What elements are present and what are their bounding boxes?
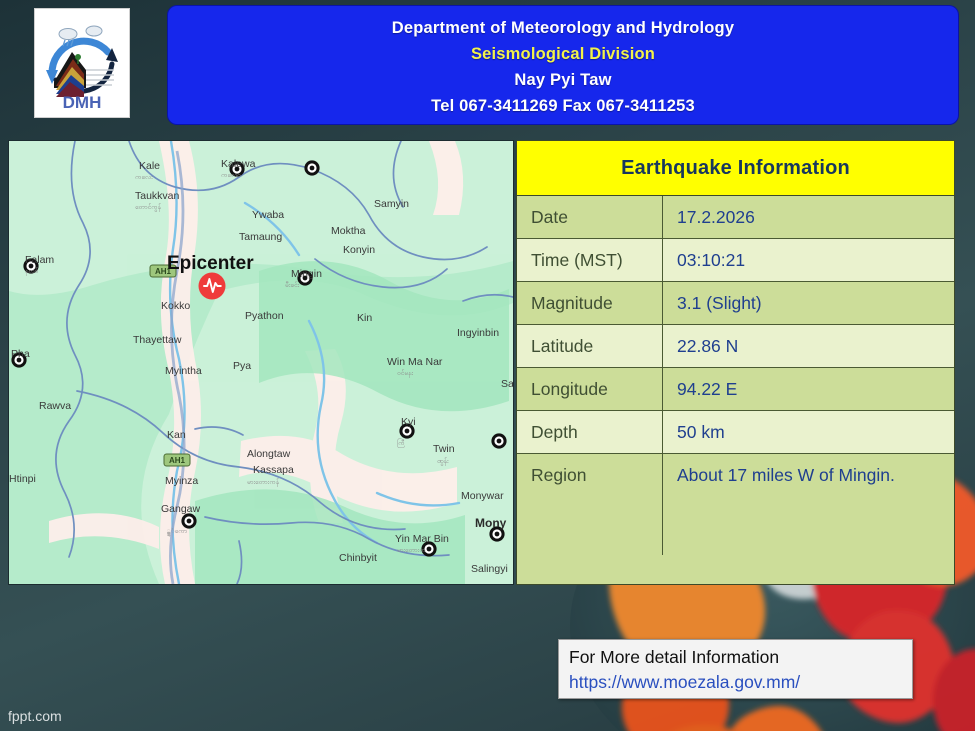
svg-text:Thayettaw: Thayettaw <box>133 334 182 346</box>
earthquake-info-panel: Earthquake Information Date 17.2.2026 Ti… <box>516 140 955 585</box>
svg-text:Myinza: Myinza <box>165 475 198 487</box>
dmh-logo: DMH <box>34 8 130 118</box>
map-canvas: Kale ကလေး Kalewa ကလေဝ Taukkvan တောင်ကွန်… <box>9 141 513 584</box>
header-banner: Department of Meteorology and Hydrology … <box>168 6 958 124</box>
table-row: Latitude 22.86 N <box>517 325 954 368</box>
svg-text:ကလေး: ကလေး <box>135 174 153 181</box>
row-label-time: Time (MST) <box>517 239 663 281</box>
table-row: Magnitude 3.1 (Slight) <box>517 282 954 325</box>
svg-text:Kokko: Kokko <box>161 300 190 312</box>
svg-text:မားတေားကန်: မားတေားကန် <box>247 478 280 487</box>
dmh-logo-text: DMH <box>63 93 102 112</box>
row-value-region: About 17 miles W of Mingin. <box>663 454 954 555</box>
row-value-magnitude: 3.1 (Slight) <box>663 282 954 324</box>
svg-text:တောင်ကွန်: တောင်ကွန် <box>135 203 162 212</box>
svg-text:AH1: AH1 <box>169 456 186 465</box>
svg-text:Falam: Falam <box>25 254 54 266</box>
svg-text:Ingyinbin: Ingyinbin <box>457 327 499 339</box>
info-panel-title: Earthquake Information <box>517 141 954 196</box>
table-row: Depth 50 km <box>517 411 954 454</box>
table-row: Longitude 94.22 E <box>517 368 954 411</box>
svg-text:မားတေားက: မားတေားက <box>397 547 426 554</box>
svg-text:Yin Mar Bin: Yin Mar Bin <box>395 533 449 545</box>
svg-text:Gangaw: Gangaw <box>161 503 201 515</box>
svg-text:Sa: Sa <box>501 378 513 390</box>
header-line-city: Nay Pyi Taw <box>168 67 958 93</box>
dmh-emblem-icon: DMH <box>38 12 126 114</box>
svg-text:ဝင်မနး: ဝင်မနး <box>397 369 413 378</box>
svg-text:Kin: Kin <box>357 312 372 324</box>
table-row: Time (MST) 03:10:21 <box>517 239 954 282</box>
svg-text:ဏွန်း: ဏွန်း <box>437 457 449 466</box>
svg-text:Kalewa: Kalewa <box>221 158 256 170</box>
svg-text:Chinbyit: Chinbyit <box>339 552 377 564</box>
svg-text:ကြီ: ကြီ <box>397 438 405 448</box>
row-label-longitude: Longitude <box>517 368 663 410</box>
svg-text:နလဗ်: နလဗ် <box>25 267 39 276</box>
svg-text:Monywar: Monywar <box>461 490 504 502</box>
svg-text:မီးခင်း: မီးခင်း <box>285 281 300 289</box>
row-label-depth: Depth <box>517 411 663 453</box>
svg-text:Mony: Mony <box>475 516 507 530</box>
svg-text:Pyathon: Pyathon <box>245 310 284 322</box>
more-info-url-link[interactable]: https://www.moezala.gov.mm/ <box>569 670 902 695</box>
header-line-division: Seismological Division <box>168 41 958 67</box>
row-value-latitude: 22.86 N <box>663 325 954 367</box>
more-info-box: For More detail Information https://www.… <box>558 639 913 699</box>
svg-text:Myintha: Myintha <box>165 365 202 377</box>
epicenter-map[interactable]: Kale ကလေး Kalewa ကလေဝ Taukkvan တောင်ကွန်… <box>8 140 514 585</box>
svg-text:Moktha: Moktha <box>331 225 366 237</box>
svg-text:Win Ma Nar: Win Ma Nar <box>387 356 443 368</box>
header-line-contact: Tel 067-3411269 Fax 067-3411253 <box>168 93 958 119</box>
row-value-date: 17.2.2026 <box>663 196 954 238</box>
svg-text:Konyin: Konyin <box>343 244 375 256</box>
svg-text:Alongtaw: Alongtaw <box>247 448 291 460</box>
row-value-time: 03:10:21 <box>663 239 954 281</box>
svg-text:Twin: Twin <box>433 443 455 455</box>
svg-text:Tamaung: Tamaung <box>239 231 282 243</box>
row-value-longitude: 94.22 E <box>663 368 954 410</box>
presentation-slide: DMH Department of Meteorology and Hydrol… <box>0 0 975 731</box>
svg-text:Kan: Kan <box>167 429 186 441</box>
svg-text:Taukkvan: Taukkvan <box>135 190 180 202</box>
more-info-caption: For More detail Information <box>569 645 902 670</box>
row-label-region: Region <box>517 454 663 555</box>
svg-text:ကလေဝ: ကလေဝ <box>221 172 241 179</box>
table-row: Region About 17 miles W of Mingin. <box>517 454 954 555</box>
row-label-magnitude: Magnitude <box>517 282 663 324</box>
svg-text:Kale: Kale <box>139 160 160 172</box>
watermark-fppt: fppt.com <box>8 708 62 724</box>
svg-text:Htinpi: Htinpi <box>9 473 36 485</box>
row-label-date: Date <box>517 196 663 238</box>
svg-text:Ywaba: Ywaba <box>252 209 284 221</box>
epicenter-marker-icon[interactable] <box>199 273 226 300</box>
svg-text:Kyi: Kyi <box>401 416 416 428</box>
row-label-latitude: Latitude <box>517 325 663 367</box>
table-row: Date 17.2.2026 <box>517 196 954 239</box>
svg-text:Kassapa: Kassapa <box>253 464 294 476</box>
svg-text:Pha: Pha <box>11 348 30 360</box>
svg-text:Mingin: Mingin <box>291 268 322 280</box>
svg-text:Rawva: Rawva <box>39 400 71 412</box>
svg-text:Samyin: Samyin <box>374 198 409 210</box>
svg-text:Pya: Pya <box>233 360 251 372</box>
svg-text:Salingyi: Salingyi <box>471 563 508 575</box>
row-value-depth: 50 km <box>663 411 954 453</box>
header-line-department: Department of Meteorology and Hydrology <box>168 15 958 41</box>
epicenter-label: Epicenter <box>167 253 254 274</box>
